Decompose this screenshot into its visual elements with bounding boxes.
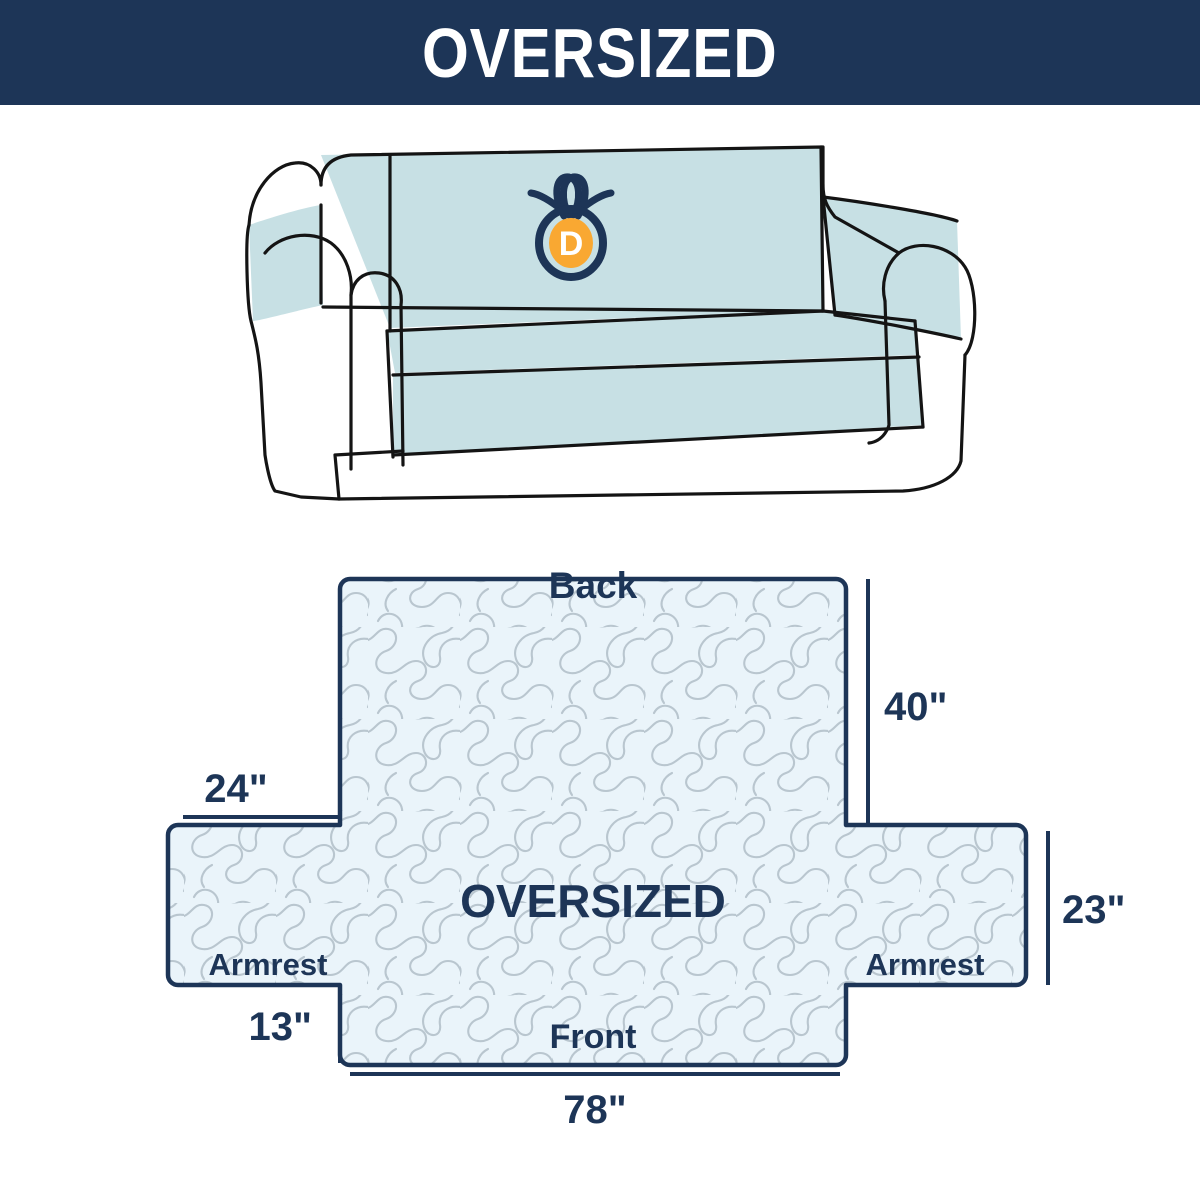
logo-letter: D <box>559 225 584 263</box>
label-back: Back <box>549 565 638 606</box>
label-armrest-right: Armrest <box>866 947 985 982</box>
dimension-front-height: 13" <box>249 1005 312 1049</box>
dimension-armrest-depth: 23" <box>1062 888 1125 932</box>
dimension-back-width: 24" <box>204 767 267 811</box>
label-center-size: OVERSIZED <box>460 875 726 927</box>
page-title: OVERSIZED <box>422 18 778 88</box>
sofa-illustration-panel: D <box>0 105 1200 535</box>
size-diagram-panel: Back OVERSIZED Armrest Armrest Front 40"… <box>0 535 1200 1200</box>
size-diagram: Back OVERSIZED Armrest Armrest Front 40"… <box>0 535 1200 1200</box>
sofa-illustration: D <box>235 125 980 515</box>
dimension-back-height: 40" <box>884 685 947 729</box>
header-banner: OVERSIZED <box>0 0 1200 105</box>
cover-shape <box>168 579 1026 1065</box>
label-armrest-left: Armrest <box>209 947 328 982</box>
label-front: Front <box>550 1018 637 1056</box>
dimension-total-width: 78" <box>563 1088 626 1132</box>
